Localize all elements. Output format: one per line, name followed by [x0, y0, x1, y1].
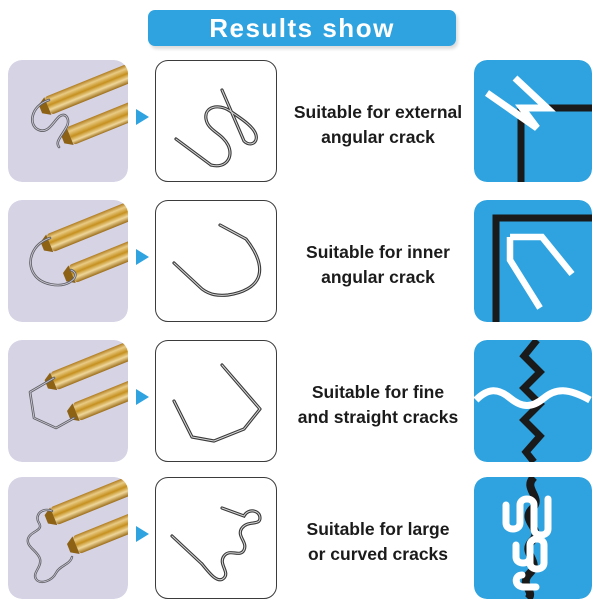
- arrow-right-icon: [134, 388, 150, 406]
- caption-inner-angular: Suitable for inner angular crack: [288, 195, 468, 335]
- result-row: Suitable for fine and straight cracks: [0, 335, 600, 475]
- caption-line-2: and straight cracks: [298, 405, 458, 430]
- welding-tool-with-flat-staple: [8, 340, 128, 462]
- caption-external-angular: Suitable for external angular crack: [288, 55, 468, 195]
- results-show-infographic: Results show: [0, 0, 600, 600]
- caption-line-1: Suitable for fine: [312, 382, 444, 402]
- u-staple-panel: [155, 200, 277, 322]
- caption-fine-straight: Suitable for fine and straight cracks: [288, 335, 468, 475]
- caption-line-2: angular crack: [294, 125, 462, 150]
- page-title: Results show: [209, 15, 395, 41]
- caption-line-1: Suitable for large: [307, 519, 450, 539]
- result-row: Suitable for external angular crack: [0, 55, 600, 195]
- arrow-right-icon: [134, 248, 150, 266]
- welding-tool-with-wavy-staple: [8, 60, 128, 182]
- inner-angular-crack-icon: [474, 200, 592, 322]
- welding-tool-with-serpentine-staple: [8, 477, 128, 599]
- result-row: Suitable for inner angular crack: [0, 195, 600, 335]
- fine-straight-crack-icon: [474, 340, 592, 462]
- wave-staple-panel: [155, 60, 277, 182]
- welding-tool-with-u-staple: [8, 200, 128, 322]
- caption-line-1: Suitable for external: [294, 102, 462, 122]
- serpentine-staple-panel: [155, 477, 277, 599]
- arrow-right-icon: [134, 108, 150, 126]
- result-row: Suitable for large or curved cracks: [0, 472, 600, 612]
- flat-staple-panel: [155, 340, 277, 462]
- large-curved-crack-icon: [474, 477, 592, 599]
- page-title-banner: Results show: [148, 10, 456, 46]
- caption-line-2: angular crack: [306, 265, 450, 290]
- arrow-right-icon: [134, 525, 150, 543]
- caption-line-2: or curved cracks: [307, 542, 450, 567]
- caption-large-curved: Suitable for large or curved cracks: [288, 472, 468, 612]
- external-angular-crack-icon: [474, 60, 592, 182]
- caption-line-1: Suitable for inner: [306, 242, 450, 262]
